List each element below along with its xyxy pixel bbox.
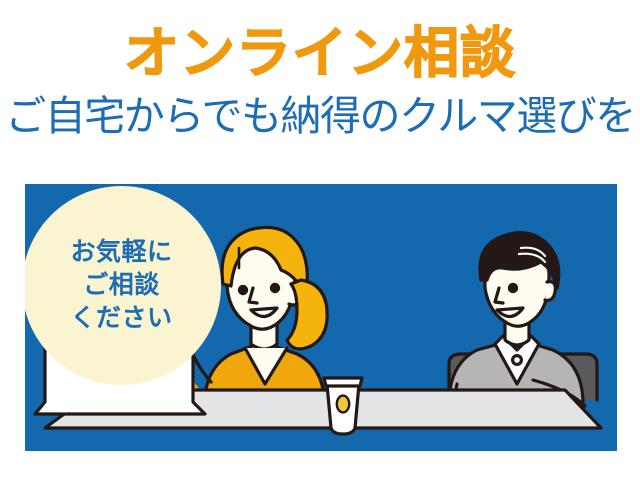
woman-eye-right: [271, 284, 278, 291]
woman-eye-left: [239, 286, 246, 293]
page-title: オンライン相談: [0, 22, 640, 84]
coffee-cup-logo: [337, 396, 349, 413]
cta-badge: お気軽に ご相談 ください: [25, 186, 221, 385]
headline-area: オンライン相談 ご自宅からでも納得のクルマ選びを: [0, 22, 640, 140]
woman-ponytail: [287, 280, 327, 349]
cta-badge-line-3: ください: [70, 302, 172, 335]
banner: お気軽に ご相談 ください: [25, 184, 617, 451]
page-subtitle: ご自宅からでも納得のクルマ選びを: [0, 92, 640, 140]
poster-canvas: オンライン相談 ご自宅からでも納得のクルマ選びを: [0, 0, 640, 480]
cta-badge-line-1: お気軽に: [70, 236, 172, 269]
man-eye: [509, 284, 516, 291]
coffee-cup-lid: [324, 378, 362, 386]
man-shirt-button: [513, 356, 522, 365]
cta-badge-line-2: ご相談: [83, 269, 160, 302]
